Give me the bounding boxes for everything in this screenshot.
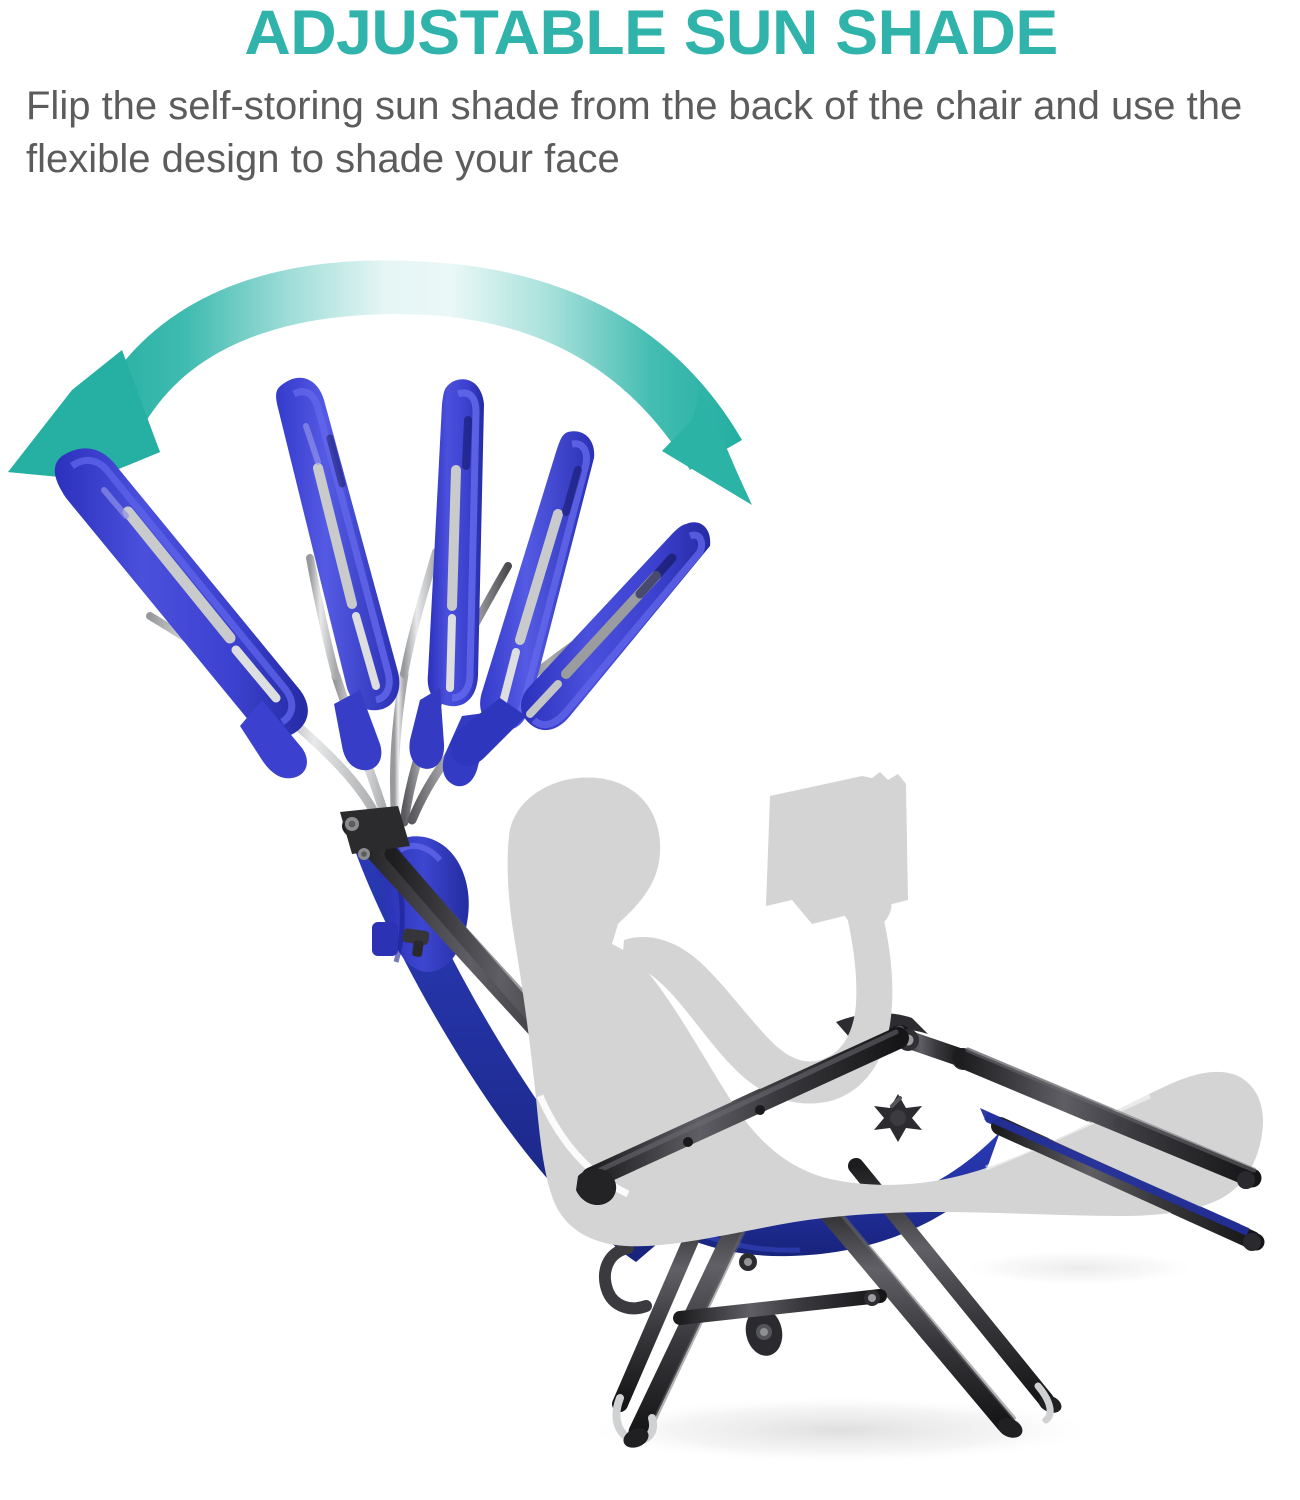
adjustable-range-arrow xyxy=(8,260,752,505)
product-feature-card: ADJUSTABLE SUN SHADE Flip the self-stori… xyxy=(0,0,1300,1500)
canopy-position-5 xyxy=(450,522,710,766)
product-illustration xyxy=(0,0,1300,1500)
canopy-position-1 xyxy=(55,448,308,778)
ground-shadow-secondary xyxy=(960,1250,1200,1286)
canopy-position-3 xyxy=(409,379,484,769)
product-illustration-svg xyxy=(0,0,1300,1500)
